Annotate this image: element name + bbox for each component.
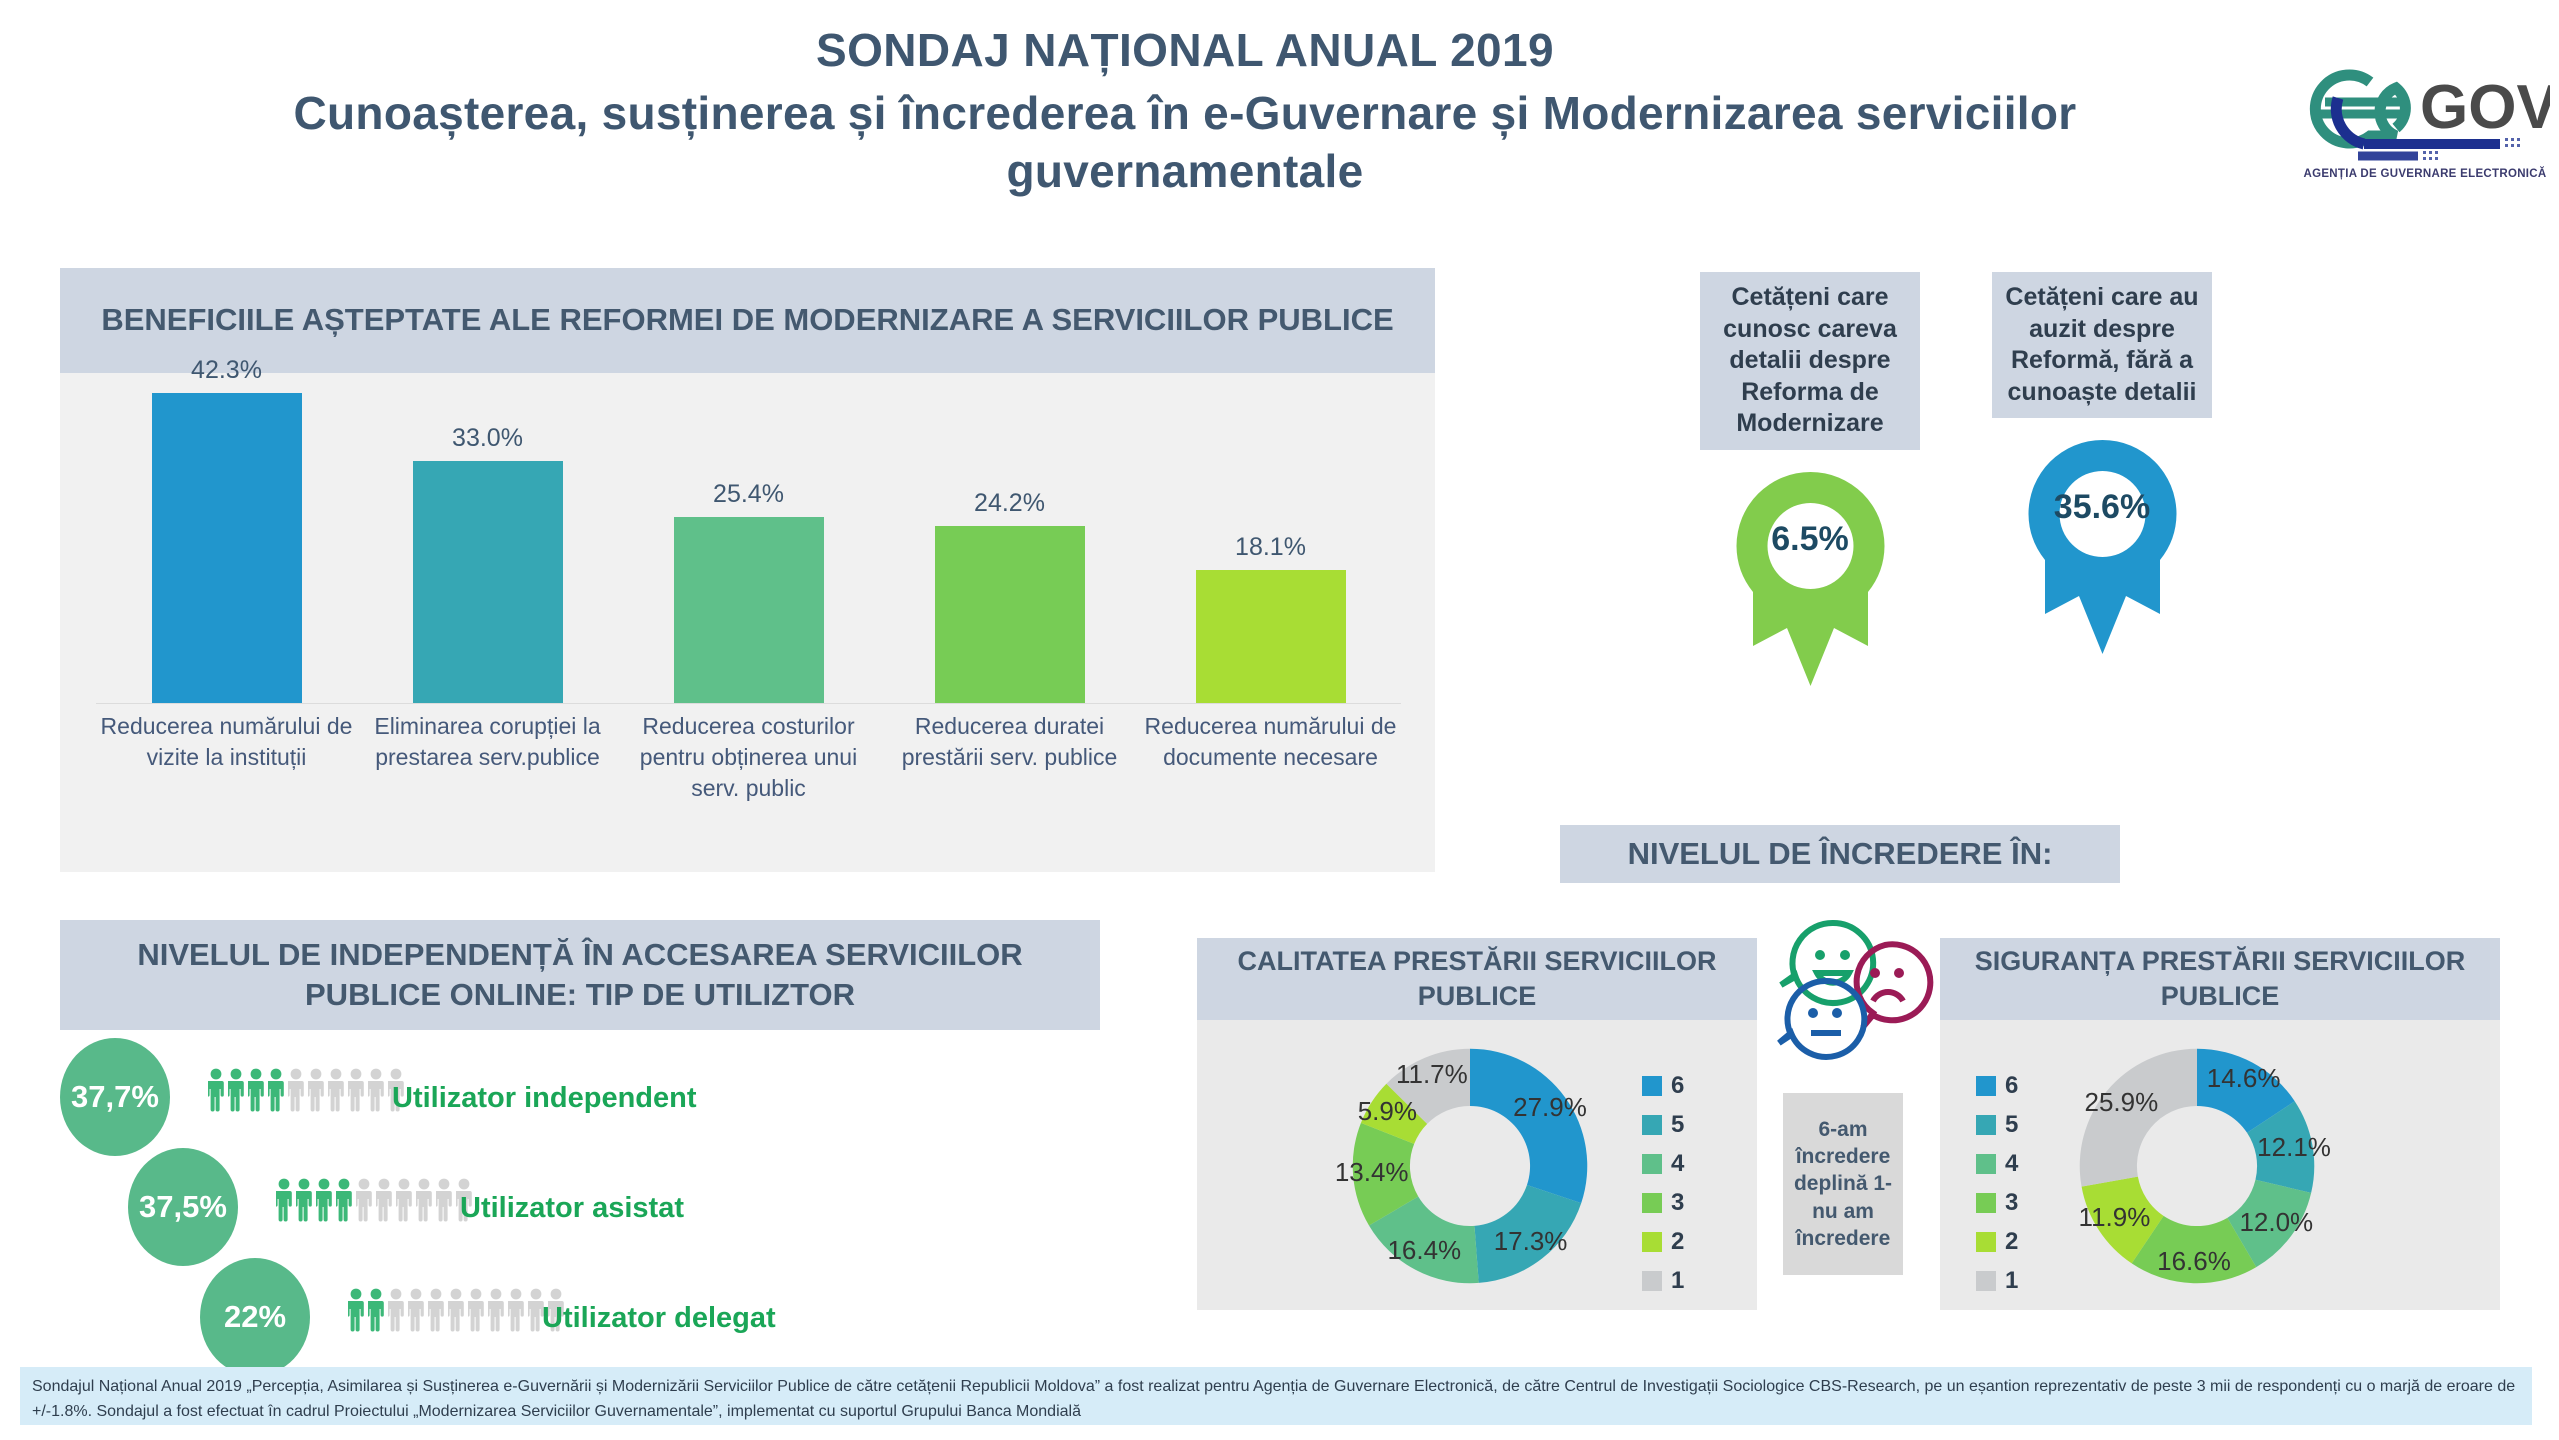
legend-label: 5 <box>1671 1111 1684 1139</box>
ribbon-icon <box>1718 468 1903 693</box>
benefits-plot-area: 42.3%33.0%25.4%24.2%18.1% Reducerea numă… <box>60 373 1435 872</box>
donut-slice-label: 12.1% <box>2250 1132 2338 1163</box>
person-icon <box>436 1178 452 1224</box>
user-type-label: Utilizator delegat <box>542 1302 776 1335</box>
user-type-percent: 37,5% <box>128 1148 238 1266</box>
bar-column: 18.1% <box>1140 373 1401 703</box>
user-type-row: 22%Utilizator delegat <box>60 1258 1100 1368</box>
bar-category-label: Reducerea numărului de vizite la institu… <box>96 711 357 773</box>
badge-heard-only: Cetățeni care au auzit despre Reformă, f… <box>1992 272 2212 666</box>
bar <box>413 461 563 703</box>
legend-item: 1 <box>1642 1267 1684 1295</box>
donut-slice-label: 11.7% <box>1388 1059 1476 1090</box>
bar-column: 42.3% <box>96 373 357 703</box>
legend-label: 6 <box>1671 1072 1684 1100</box>
bar-category-label: Reducerea costurilor pentru obținerea un… <box>618 711 879 804</box>
person-icon <box>368 1288 384 1334</box>
legend-label: 4 <box>2005 1150 2018 1178</box>
bar-value-label: 42.3% <box>191 356 262 385</box>
bar-column: 25.4% <box>618 373 879 703</box>
bar-category-label: Reducerea duratei prestării serv. public… <box>879 711 1140 773</box>
legend-label: 3 <box>1671 1189 1684 1217</box>
person-icon <box>368 1068 384 1114</box>
smiley-faces-icon <box>1773 915 1935 1070</box>
person-icon <box>356 1178 372 1224</box>
bar <box>1196 570 1346 703</box>
badge-heard-only-shape: 35.6% <box>2010 436 2195 666</box>
bar-category-label: Reducerea numărului de documente necesar… <box>1140 711 1401 773</box>
person-icon <box>316 1178 332 1224</box>
badge-heard-only-label: Cetățeni care au auzit despre Reformă, f… <box>1992 272 2212 418</box>
egov-logo-icon: GOV <box>2300 40 2550 165</box>
bar-value-label: 18.1% <box>1235 533 1306 562</box>
trust-scale-note: 6-am încredere deplină 1-nu am încredere <box>1783 1093 1903 1275</box>
person-icon <box>508 1288 524 1334</box>
page-title-line1: SONDAJ NAȚIONAL ANUAL 2019 <box>120 22 2250 80</box>
legend-item: 6 <box>1642 1072 1684 1100</box>
legend-item: 3 <box>1976 1189 2018 1217</box>
legend-label: 1 <box>2005 1267 2018 1295</box>
legend-swatch <box>1642 1232 1662 1252</box>
user-type-percent: 22% <box>200 1258 310 1376</box>
legend-swatch <box>1642 1193 1662 1213</box>
donut-quality-heading: CALITATEA PRESTĂRII SERVICIILOR PUBLICE <box>1197 938 1757 1020</box>
bar <box>674 517 824 703</box>
bar-value-label: 25.4% <box>713 480 784 509</box>
legend-swatch <box>1976 1076 1996 1096</box>
person-icon <box>348 1068 364 1114</box>
footer-note: Sondajul Național Anual 2019 „Percepția,… <box>20 1367 2532 1425</box>
bar-value-label: 33.0% <box>452 424 523 453</box>
user-type-label: Utilizator independent <box>392 1082 697 1115</box>
person-icon <box>308 1068 324 1114</box>
user-type-heading: NIVELUL DE INDEPENDENȚĂ ÎN ACCESAREA SER… <box>60 920 1100 1030</box>
person-icon <box>288 1068 304 1114</box>
legend-label: 5 <box>2005 1111 2018 1139</box>
legend-item: 2 <box>1976 1228 2018 1256</box>
people-pictogram <box>276 1178 472 1224</box>
donut-slice-label: 16.6% <box>2150 1246 2238 1277</box>
logo-subtitle: AGENȚIA DE GUVERNARE ELECTRONICĂ <box>2300 168 2550 180</box>
bar-category-label: Eliminarea corupției la prestarea serv.p… <box>357 711 618 773</box>
donut-slice-label: 12.0% <box>2232 1207 2320 1238</box>
legend-label: 3 <box>2005 1189 2018 1217</box>
donut-slice-label: 16.4% <box>1380 1235 1468 1266</box>
badge-heard-only-value: 35.6% <box>2010 488 2195 527</box>
legend-swatch <box>1976 1193 1996 1213</box>
awareness-badges: Cetățeni care cunosc careva detalii desp… <box>1700 272 2320 792</box>
bar-value-label: 24.2% <box>974 489 1045 518</box>
legend-item: 4 <box>1642 1150 1684 1178</box>
legend-label: 4 <box>1671 1150 1684 1178</box>
badge-knows-details-label: Cetățeni care cunosc careva detalii desp… <box>1700 272 1920 450</box>
infographic-root: SONDAJ NAȚIONAL ANUAL 2019 Cunoașterea, … <box>0 0 2559 1440</box>
person-icon <box>376 1178 392 1224</box>
legend-swatch <box>1642 1115 1662 1135</box>
donut-safety-body: 14.6%12.1%12.0%16.6%11.9%25.9% 654321 <box>1940 1020 2500 1310</box>
donut-slice <box>2080 1049 2197 1187</box>
badge-knows-details-shape: 6.5% <box>1718 468 1903 698</box>
user-type-row: 37,5%Utilizator asistat <box>60 1148 1100 1258</box>
page-header: SONDAJ NAȚIONAL ANUAL 2019 Cunoașterea, … <box>0 12 2559 252</box>
person-icon <box>276 1178 292 1224</box>
people-pictogram <box>208 1068 404 1114</box>
donut-slice-label: 17.3% <box>1487 1226 1575 1257</box>
legend-item: 2 <box>1642 1228 1684 1256</box>
person-icon <box>268 1068 284 1114</box>
user-type-panel: NIVELUL DE INDEPENDENȚĂ ÎN ACCESAREA SER… <box>60 920 1100 1320</box>
donut-panel-quality: CALITATEA PRESTĂRII SERVICIILOR PUBLICE … <box>1197 938 1757 1310</box>
person-icon <box>468 1288 484 1334</box>
person-icon <box>396 1178 412 1224</box>
bar <box>935 526 1085 703</box>
legend-label: 6 <box>2005 1072 2018 1100</box>
badge-knows-details: Cetățeni care cunosc careva detalii desp… <box>1700 272 1920 698</box>
bar-column: 24.2% <box>879 373 1140 703</box>
legend-item: 5 <box>1976 1111 2018 1139</box>
person-icon <box>248 1068 264 1114</box>
bar <box>152 393 302 703</box>
legend-swatch <box>1642 1271 1662 1291</box>
legend-swatch <box>1976 1154 1996 1174</box>
logo-wordmark: GOV <box>2420 73 2550 142</box>
legend-item: 1 <box>1976 1267 2018 1295</box>
donut-slice-label: 11.9% <box>2070 1202 2158 1233</box>
person-icon <box>448 1288 464 1334</box>
ribbon-icon <box>2010 436 2195 661</box>
legend-swatch <box>1976 1115 1996 1135</box>
person-icon <box>408 1288 424 1334</box>
person-icon <box>348 1288 364 1334</box>
legend-item: 3 <box>1642 1189 1684 1217</box>
person-icon <box>416 1178 432 1224</box>
legend-label: 1 <box>1671 1267 1684 1295</box>
egov-logo: GOV AGENȚIA DE GUVERNARE ELECTRONICĂ <box>2300 40 2550 210</box>
person-icon <box>296 1178 312 1224</box>
badge-knows-details-value: 6.5% <box>1718 520 1903 559</box>
legend-swatch <box>1642 1154 1662 1174</box>
benefits-bar-panel: BENEFICIILE AȘTEPTATE ALE REFORMEI DE MO… <box>60 268 1435 872</box>
title-block: SONDAJ NAȚIONAL ANUAL 2019 Cunoașterea, … <box>120 22 2250 201</box>
person-icon <box>228 1068 244 1114</box>
donut-quality-legend: 654321 <box>1642 1072 1684 1295</box>
legend-label: 2 <box>1671 1228 1684 1256</box>
person-icon <box>328 1068 344 1114</box>
person-icon <box>428 1288 444 1334</box>
trust-section-heading: NIVELUL DE ÎNCREDERE ÎN: <box>1560 825 2120 883</box>
legend-swatch <box>1976 1271 1996 1291</box>
person-icon <box>336 1178 352 1224</box>
page-title-line2: Cunoașterea, susținerea și încrederea în… <box>120 84 2250 202</box>
user-type-row: 37,7%Utilizator independent <box>60 1038 1100 1148</box>
benefits-panel-heading: BENEFICIILE AȘTEPTATE ALE REFORMEI DE MO… <box>60 268 1435 373</box>
donut-slice <box>1470 1049 1587 1203</box>
people-pictogram <box>348 1288 564 1334</box>
bar-category-labels: Reducerea numărului de vizite la institu… <box>96 711 1401 831</box>
donut-panel-safety: SIGURANȚA PRESTĂRII SERVICIILOR PUBLICE … <box>1940 938 2500 1310</box>
user-type-label: Utilizator asistat <box>460 1192 684 1225</box>
donut-slice-label: 25.9% <box>2077 1087 2165 1118</box>
person-icon <box>388 1288 404 1334</box>
legend-swatch <box>1976 1232 1996 1252</box>
bar-column: 33.0% <box>357 373 618 703</box>
donut-quality-body: 27.9%17.3%16.4%13.4%5.9%11.7% 654321 <box>1197 1020 1757 1310</box>
donut-slice-label: 13.4% <box>1328 1157 1416 1188</box>
person-icon <box>488 1288 504 1334</box>
legend-item: 6 <box>1976 1072 2018 1100</box>
donut-safety-legend: 654321 <box>1976 1072 2018 1295</box>
bar-axis-line <box>96 703 1401 704</box>
legend-label: 2 <box>2005 1228 2018 1256</box>
legend-swatch <box>1642 1076 1662 1096</box>
donut-slice-label: 14.6% <box>2200 1063 2288 1094</box>
legend-item: 4 <box>1976 1150 2018 1178</box>
person-icon <box>208 1068 224 1114</box>
donut-slice-label: 27.9% <box>1506 1092 1594 1123</box>
donut-safety-heading: SIGURANȚA PRESTĂRII SERVICIILOR PUBLICE <box>1940 938 2500 1020</box>
user-type-percent: 37,7% <box>60 1038 170 1156</box>
bar-series: 42.3%33.0%25.4%24.2%18.1% <box>96 373 1401 703</box>
donut-slice-label: 5.9% <box>1343 1096 1431 1127</box>
legend-item: 5 <box>1642 1111 1684 1139</box>
